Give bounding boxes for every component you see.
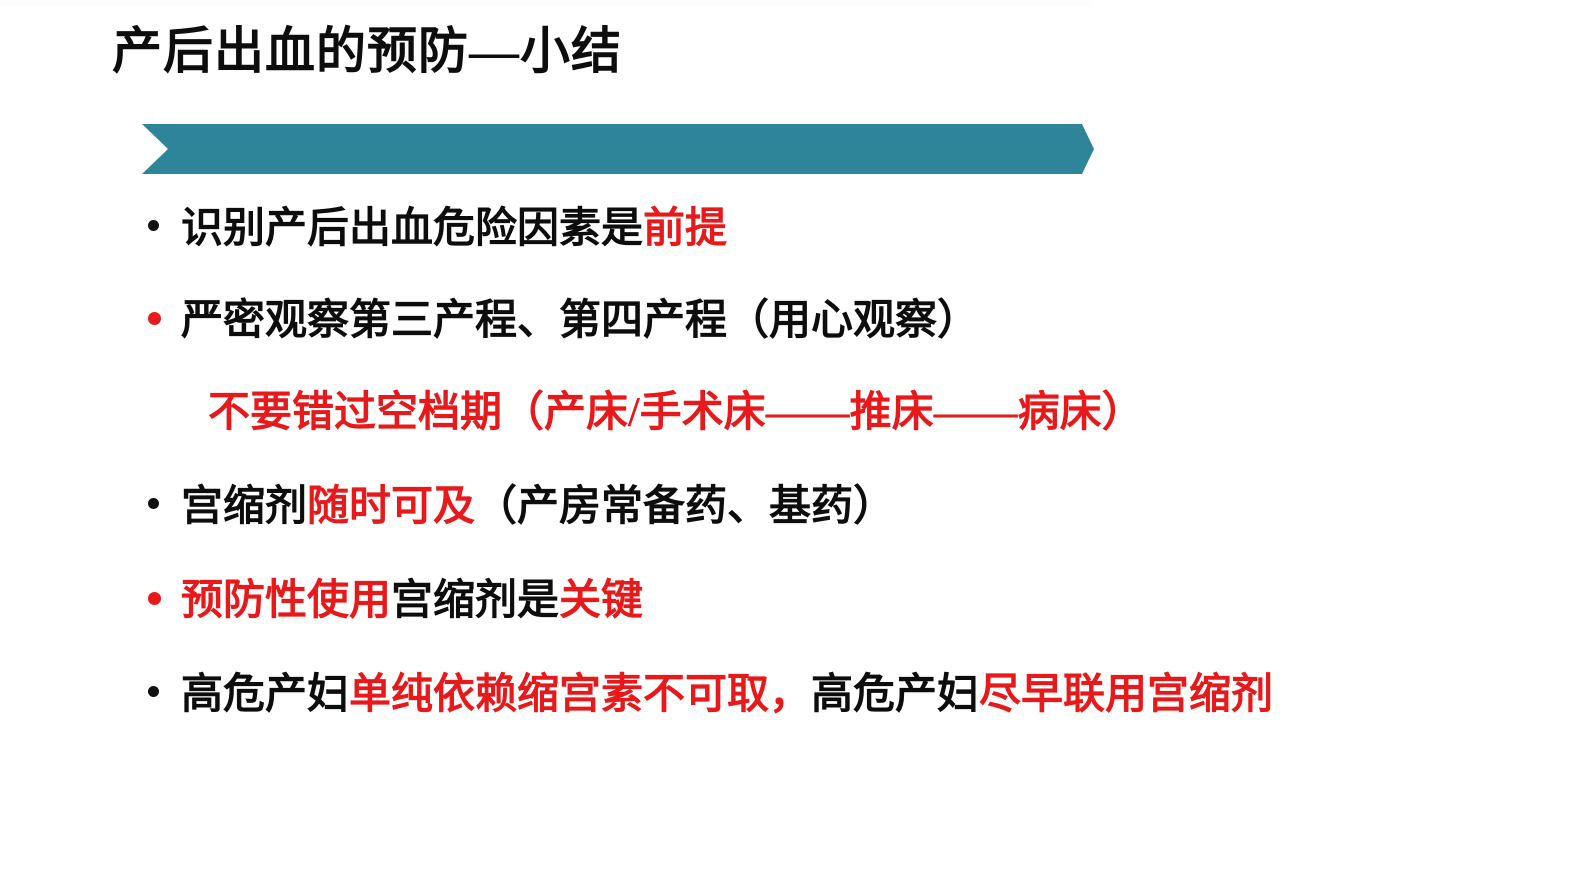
list-item-text: 不要错过空档期（产床/手术床——推床——病床） — [208, 390, 1144, 437]
bullet-dot-icon — [148, 220, 159, 231]
text-segment: 严密观察第三产程、第四产程（用心观察） — [181, 298, 979, 344]
text-segment-highlight: 单纯依赖缩宫素不可取， — [349, 672, 811, 718]
text-segment-highlight: 前提 — [643, 206, 727, 252]
text-segment-highlight: 随时可及 — [307, 484, 475, 530]
list-item: 识别产后出血危险因素是前提 — [0, 206, 1572, 272]
text-segment-highlight: 不要错过空档期（产床/手术床——推床——病床） — [208, 390, 1144, 436]
text-segment: 高危产妇 — [811, 672, 979, 718]
slide-canvas: 产后出血的预防—小结 识别产后出血危险因素是前提 严密观察第三产程、第四产程（用… — [0, 0, 1572, 886]
text-segment-highlight: 关键 — [559, 578, 643, 624]
bullet-dot-icon — [148, 686, 159, 697]
bullet-dot-icon — [148, 312, 161, 325]
page-plate-edge — [0, 0, 1092, 6]
list-item: 预防性使用宫缩剂是关键 — [0, 578, 1572, 644]
list-item-text: 预防性使用宫缩剂是关键 — [181, 578, 643, 625]
text-segment: （产房常备药、基药） — [475, 484, 895, 530]
list-item: 宫缩剂随时可及（产房常备药、基药） — [0, 484, 1572, 550]
list-item-sub: 不要错过空档期（产床/手术床——推床——病床） — [0, 390, 1572, 456]
list-item: 严密观察第三产程、第四产程（用心观察） — [0, 298, 1572, 364]
text-segment-highlight: 尽早联用宫缩剂 — [979, 672, 1273, 718]
text-segment: 高危产妇 — [181, 672, 349, 718]
text-segment: 宫缩剂是 — [391, 578, 559, 624]
chevron-banner — [142, 124, 1094, 174]
text-segment: 识别产后出血危险因素是 — [181, 206, 643, 252]
list-item-text: 识别产后出血危险因素是前提 — [181, 206, 727, 253]
text-segment: 宫缩剂 — [181, 484, 307, 530]
bullet-dot-icon — [148, 592, 161, 605]
text-segment-highlight: 预防性使用 — [181, 578, 391, 624]
page-title: 产后出血的预防—小结 — [112, 24, 622, 79]
bullet-dot-icon — [148, 498, 159, 509]
list-item-text: 严密观察第三产程、第四产程（用心观察） — [181, 298, 979, 345]
list-item: 高危产妇单纯依赖缩宫素不可取，高危产妇尽早联用宫缩剂 — [0, 672, 1572, 738]
bullet-list: 识别产后出血危险因素是前提 严密观察第三产程、第四产程（用心观察） 不要错过空档… — [0, 196, 1572, 738]
list-item-text: 高危产妇单纯依赖缩宫素不可取，高危产妇尽早联用宫缩剂 — [181, 672, 1273, 719]
list-item-text: 宫缩剂随时可及（产房常备药、基药） — [181, 484, 895, 531]
